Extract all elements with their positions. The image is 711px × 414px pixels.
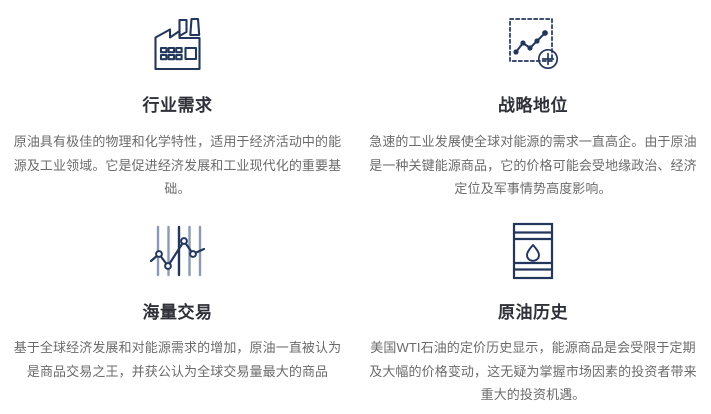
feature-card-huge-volume: 海量交易 基于全球经济发展和对能源需求的增加，原油一直被认为是商品交易之王，并获… — [0, 207, 355, 414]
card-title: 原油历史 — [498, 303, 568, 323]
feature-card-oil-history: 原油历史 美国WTI石油的定价历史显示，能源商品是会受限于定期及大幅的价格变动，… — [355, 207, 711, 414]
card-body: 急速的工业发展使全球对能源的需求一直高企。由于原油是一种关键能源商品，它的价格可… — [368, 130, 698, 199]
card-body: 基于全球经济发展和对能源需求的增加，原油一直被认为是商品交易之王，并获公认为全球… — [13, 336, 343, 382]
card-body: 原油具有极佳的物理和化学特性，适用于经济活动中的能源及工业领域。它是促进经济发展… — [13, 130, 343, 199]
card-title: 海量交易 — [143, 303, 213, 323]
feature-card-industry-demand: 行业需求 原油具有极佳的物理和化学特性，适用于经济活动中的能源及工业领域。它是促… — [0, 0, 355, 207]
feature-card-strategic-position: 战略地位 急速的工业发展使全球对能源的需求一直高企。由于原油是一种关键能源商品，… — [355, 0, 711, 207]
factory-icon — [146, 8, 210, 80]
card-title: 战略地位 — [498, 96, 568, 116]
card-body: 美国WTI石油的定价历史显示，能源商品是会受限于定期及大幅的价格变动，这无疑为掌… — [368, 336, 698, 405]
chart-add-icon — [501, 8, 565, 80]
oil-barrel-icon — [507, 215, 559, 287]
volume-chart-icon — [146, 215, 210, 287]
feature-grid: 行业需求 原油具有极佳的物理和化学特性，适用于经济活动中的能源及工业领域。它是促… — [0, 0, 711, 414]
card-title: 行业需求 — [143, 96, 213, 116]
